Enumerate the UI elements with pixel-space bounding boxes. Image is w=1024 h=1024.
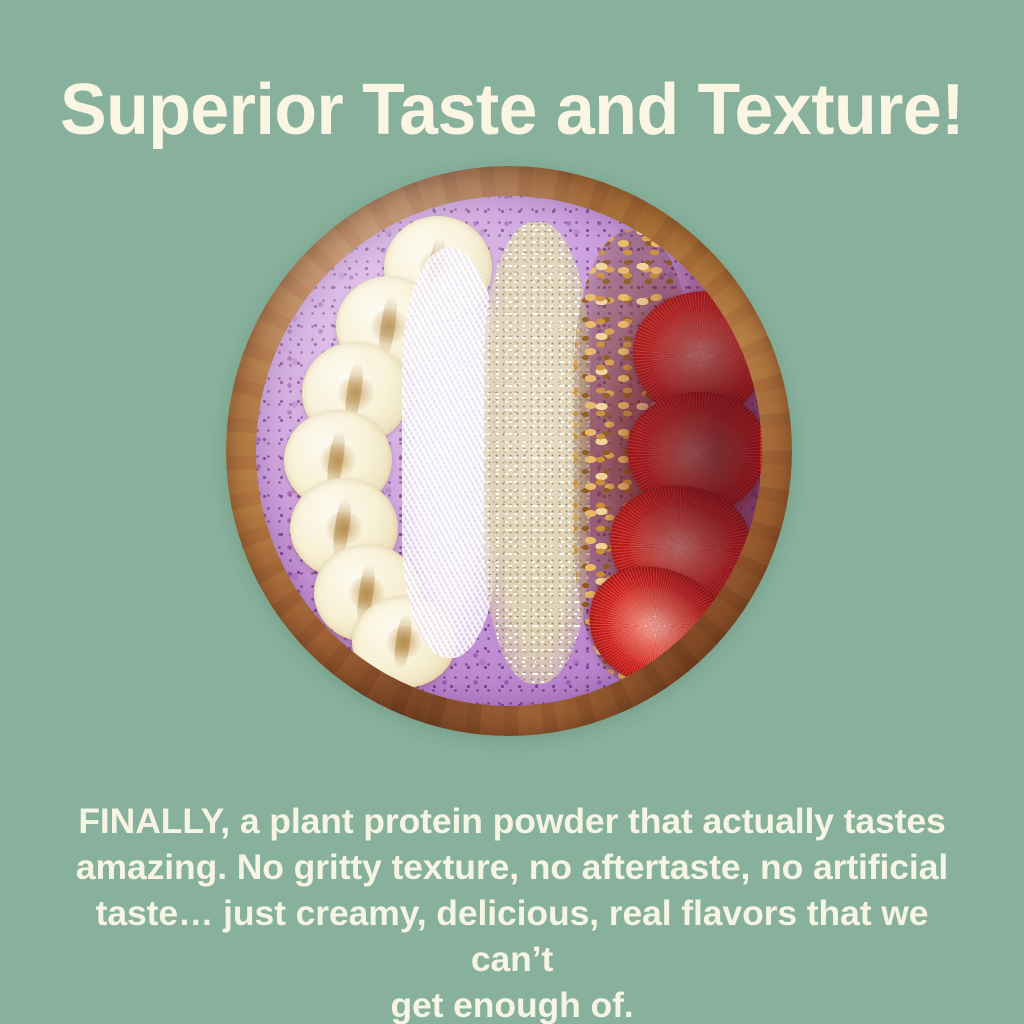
body-line: FINALLY, a plant protein powder that act… bbox=[78, 801, 945, 841]
berry-juice bbox=[610, 242, 760, 662]
body-copy: FINALLY, a plant protein powder that act… bbox=[50, 798, 974, 1024]
toppings-layer bbox=[256, 196, 762, 706]
page-title: Superior Taste and Texture! bbox=[15, 74, 1008, 146]
body-line: taste… just creamy, delicious, real flav… bbox=[96, 893, 929, 979]
body-line: amazing. No gritty texture, no aftertast… bbox=[76, 847, 948, 887]
smoothie-bowl-photo bbox=[226, 166, 792, 736]
body-line: get enough of. bbox=[390, 985, 633, 1024]
promo-poster: Superior Taste and Texture! bbox=[0, 0, 1024, 1024]
